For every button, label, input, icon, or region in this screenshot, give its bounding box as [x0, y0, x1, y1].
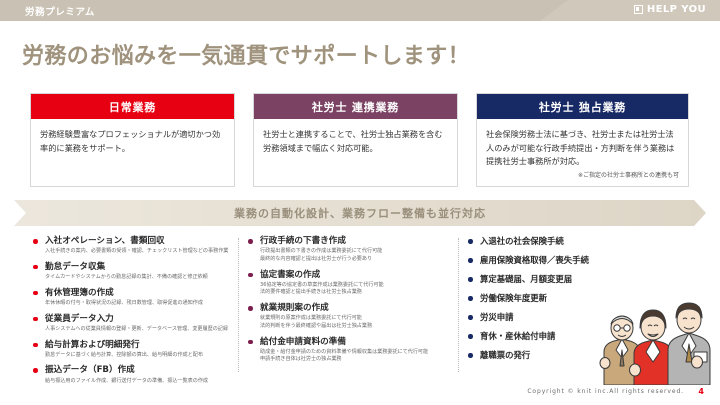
bullet-icon	[33, 291, 38, 296]
automation-banner: 業務の自動化設計、業務フロー整備も並行対応	[14, 200, 706, 226]
bullet-icon	[468, 239, 473, 244]
task-item-description: 入社手続きの案内、必要書類の受領・確認、チェックリスト管理などの事務作業	[45, 248, 233, 256]
copyright-text: Copyright © knit inc.All rights reserved…	[527, 388, 684, 395]
knit-logo-icon	[634, 5, 643, 14]
task-item: 勤怠データ収集タイムカードやシステムからの勤怠記録の集計、不備の確認と修正依頼	[33, 262, 233, 282]
task-item: 振込データ（FB）作成給与振込用のファイル作成、銀行送付データの準備、振込一覧表…	[33, 365, 233, 385]
task-item-title: 従業員データ入力	[45, 314, 233, 325]
page-number: 4	[698, 387, 704, 396]
card-heading: 社労士 連携業務	[254, 94, 457, 119]
task-column-daily: 入社オペレーション、書類回収入社手続きの案内、必要書類の受領・確認、チェックリス…	[33, 236, 233, 391]
bullet-icon	[468, 277, 473, 282]
task-item-description: 助成金・給付金申請のための資料準備や情報収集は業務委託にて代行可能申請手続き自体…	[260, 349, 453, 364]
task-item-title: 雇用保険資格取得／喪失手続	[480, 255, 648, 266]
bullet-icon	[33, 265, 38, 270]
slide-header: 労務プレミアム HELP YOU	[0, 0, 720, 21]
service-card-exclusive: 社労士 独占業務 社会保険労務士法に基づき、社労士または社労士法人のみが可能な行…	[476, 93, 689, 187]
task-item: 従業員データ入力人事システムへの従業員情報の登録・更新、データベース管理、変更履…	[33, 314, 233, 334]
bullet-icon	[33, 368, 38, 373]
task-item-title: 就業規則案の作成	[260, 303, 453, 314]
brand-logo: HELP YOU	[634, 4, 706, 15]
task-item-description: 就業規則の原案作成は業務委託にて代行可能法的判断を伴う最終確認や届出は社労士独占…	[260, 315, 453, 330]
task-item-title: 給付金申請資料の準備	[260, 337, 453, 348]
service-card-daily: 日常業務 労務経験豊富なプロフェッショナルが適切かつ効率的に業務をサポート。	[30, 93, 235, 187]
task-column-collaboration: 行政手続の下書き作成行政提出書類の下書きの作成は業務委託にて代行可能最終的な内容…	[248, 236, 453, 370]
bullet-icon	[248, 273, 253, 278]
bullet-icon	[248, 239, 253, 244]
bullet-icon	[248, 340, 253, 345]
bullet-icon	[33, 343, 38, 348]
card-body-text: 社労士と連携することで、社労士独占業務を含む労務領域まで幅広く対応可能。	[254, 119, 457, 155]
card-heading: 社労士 独占業務	[477, 94, 688, 119]
column-divider	[238, 238, 239, 372]
people-illustration	[596, 300, 716, 385]
task-item-description: 年休休暇の付与・取得状況の記録、残日数管理、取得促進の通知作成	[45, 300, 233, 308]
bullet-icon	[468, 353, 473, 358]
task-item-title: 行政手続の下書き作成	[260, 236, 453, 247]
task-item-description: 36協定等の協定書の草案作成は業務委託にて代行可能法的要件確認と提出手続きは社労…	[260, 282, 453, 297]
page-title: 労務のお悩みを一気通貫でサポートします！	[22, 38, 470, 70]
task-item-title: 給与計算および明細発行	[45, 340, 233, 351]
bullet-icon	[468, 334, 473, 339]
card-footnote: ※ご指定の社労士事務所との連携も可	[477, 169, 688, 180]
task-item: 給付金申請資料の準備助成金・給付金申請のための資料準備や情報収集は業務委託にて代…	[248, 337, 453, 365]
task-item-description: 行政提出書類の下書きの作成は業務委託にて代行可能最終的な内容確認と提出は社労士が…	[260, 248, 453, 263]
card-body-text: 社会保険労務士法に基づき、社労士または社労士法人のみが可能な行政手続提出・方判断…	[477, 119, 688, 169]
task-item-description: 人事システムへの従業員情報の登録・更新、データベース管理、変更履歴の記録	[45, 326, 233, 334]
column-divider	[458, 238, 459, 372]
slide-root: 労務プレミアム HELP YOU 労務のお悩みを一気通貫でサポートします！ 日常…	[0, 0, 720, 405]
task-item-title: 算定基礎届、月額変更届	[480, 274, 648, 285]
task-item-title: 入退社の社会保険手続	[480, 236, 648, 247]
service-card-group: 日常業務 労務経験豊富なプロフェッショナルが適切かつ効率的に業務をサポート。 社…	[0, 93, 720, 188]
card-heading: 日常業務	[31, 94, 234, 119]
header-title: 労務プレミアム	[25, 4, 95, 18]
task-item-title: 協定書案の作成	[260, 270, 453, 281]
task-item-description: 給与振込用のファイル作成、銀行送付データの準備、振込一覧表の作成	[45, 378, 233, 386]
task-item: 有休管理簿の作成年休休暇の付与・取得状況の記録、残日数管理、取得促進の通知作成	[33, 288, 233, 308]
task-item: 就業規則案の作成就業規則の原案作成は業務委託にて代行可能法的判断を伴う最終確認や…	[248, 303, 453, 331]
brand-name: HELP YOU	[647, 4, 706, 15]
bullet-icon	[33, 317, 38, 322]
task-item: 雇用保険資格取得／喪失手続	[468, 255, 648, 266]
task-item-description: 勤怠データに基づく給与計算、控除額の算出、給与明細の作成と配布	[45, 352, 233, 360]
task-item: 行政手続の下書き作成行政提出書類の下書きの作成は業務委託にて代行可能最終的な内容…	[248, 236, 453, 264]
banner-label: 業務の自動化設計、業務フロー整備も並行対応	[234, 205, 486, 221]
task-item: 給与計算および明細発行勤怠データに基づく給与計算、控除額の算出、給与明細の作成と…	[33, 340, 233, 360]
task-item-title: 入社オペレーション、書類回収	[45, 236, 233, 247]
bullet-icon	[468, 315, 473, 320]
task-item-title: 勤怠データ収集	[45, 262, 233, 273]
service-card-collaboration: 社労士 連携業務 社労士と連携することで、社労士独占業務を含む労務領域まで幅広く…	[253, 93, 458, 187]
bullet-icon	[33, 239, 38, 244]
task-item-title: 有休管理簿の作成	[45, 288, 233, 299]
task-item: 入退社の社会保険手続	[468, 236, 648, 247]
task-item: 入社オペレーション、書類回収入社手続きの案内、必要書類の受領・確認、チェックリス…	[33, 236, 233, 256]
task-item-title: 振込データ（FB）作成	[45, 365, 233, 376]
task-item: 算定基礎届、月額変更届	[468, 274, 648, 285]
task-item-description: タイムカードやシステムからの勤怠記録の集計、不備の確認と修正依頼	[45, 274, 233, 282]
card-body-text: 労務経験豊富なプロフェッショナルが適切かつ効率的に業務をサポート。	[31, 119, 234, 155]
bullet-icon	[248, 306, 253, 311]
bullet-icon	[468, 258, 473, 263]
bullet-icon	[468, 296, 473, 301]
task-item: 協定書案の作成36協定等の協定書の草案作成は業務委託にて代行可能法的要件確認と提…	[248, 270, 453, 298]
